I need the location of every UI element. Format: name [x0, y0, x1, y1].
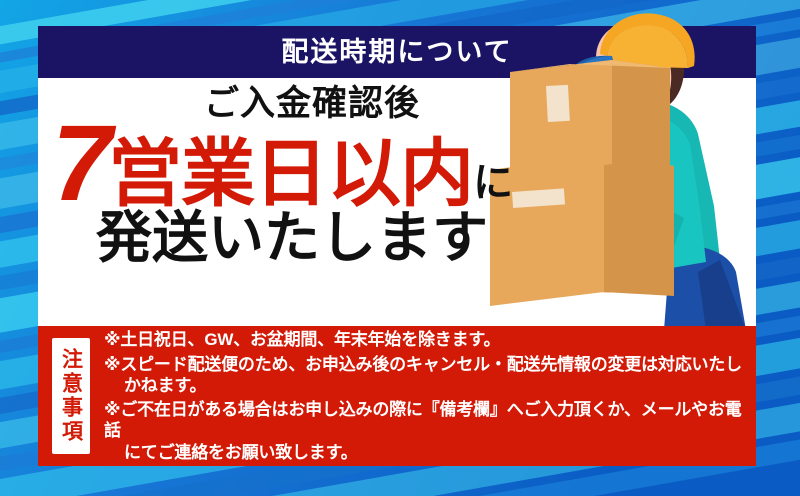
notice-label-box: 注意事項 [52, 338, 90, 454]
notice-box: 注意事項 ※土日祝日、GW、お盆期間、年末年始を除きます。 ※スピード配送便のた… [38, 326, 756, 466]
shipping-notice-banner: 配送時期について [0, 0, 800, 496]
headline-block: ご入金確認後 7 営業日以内 に 発送いたします [52, 86, 522, 268]
notice-item-main: ※土日祝日、GW、お盆期間、年末年始を除きます。 [104, 330, 500, 349]
notice-label-text: 注意事項 [61, 348, 82, 444]
page-title: 配送時期について [281, 39, 512, 66]
notice-item-list: ※土日祝日、GW、お盆期間、年末年始を除きます。 ※スピード配送便のため、お申込… [100, 326, 756, 466]
headline-line-2: 7 営業日以内 に [52, 119, 522, 208]
headline-line-1: ご入金確認後 [102, 86, 522, 123]
notice-item-main: ※スピード配送便のため、お申込み後のキャンセル・配送先情報の変更は対応いたし [104, 355, 742, 374]
notice-item: ※ご不在日がある場合はお申し込みの際に『備考欄』へご入力頂くか、メールやお電話 … [104, 399, 742, 463]
headline-red-phrase: 営業日以内 [108, 141, 473, 208]
header-bar: 配送時期について [38, 26, 756, 78]
notice-item: ※土日祝日、GW、お盆期間、年末年始を除きます。 [104, 329, 742, 350]
notice-item-main: ※ご不在日がある場合はお申し込みの際に『備考欄』へご入力頂くか、メールやお電話 [104, 400, 742, 440]
headline-suffix: に [473, 163, 513, 207]
notice-item-continuation: にてご連絡をお願い致します。 [104, 442, 742, 463]
headline-number: 7 [52, 119, 108, 208]
notice-item: ※スピード配送便のため、お申込み後のキャンセル・配送先情報の変更は対応いたし か… [104, 354, 742, 397]
headline-line-3: 発送いたします [62, 209, 522, 268]
notice-item-continuation: かねます。 [104, 375, 742, 396]
